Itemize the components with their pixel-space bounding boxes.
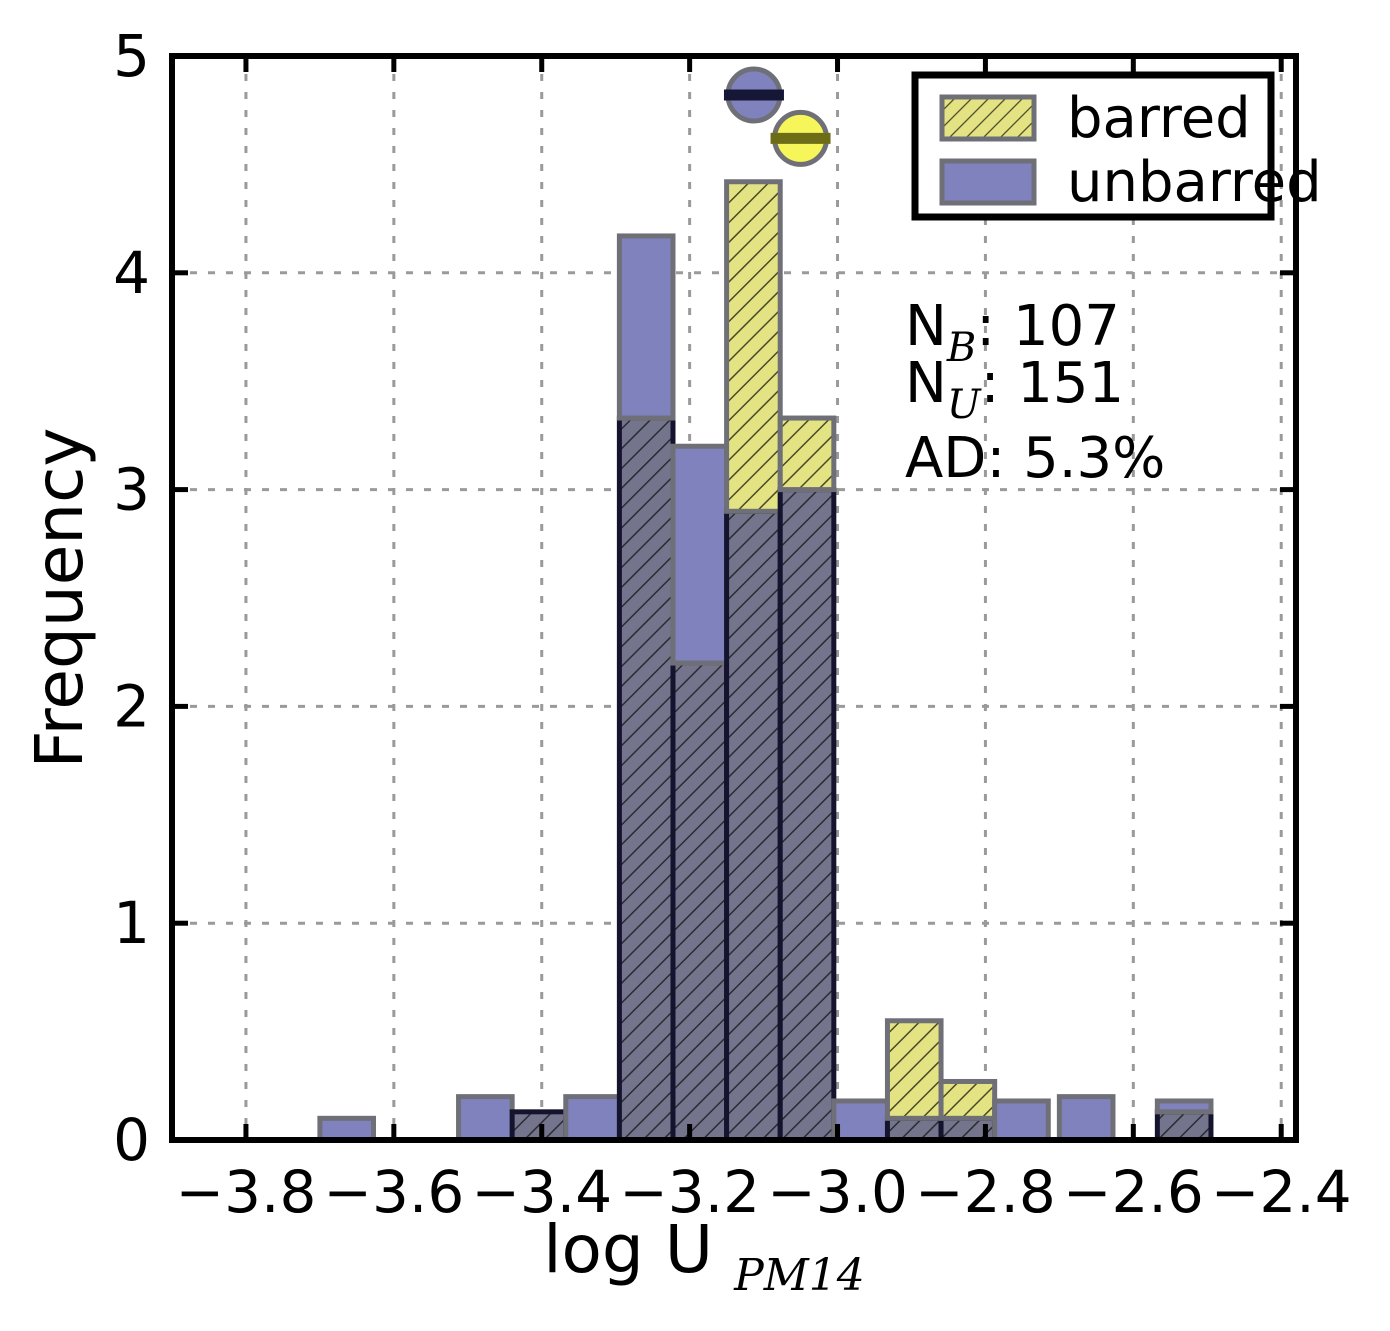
y-tick-label: 3: [113, 456, 150, 524]
y-tick-label: 1: [113, 889, 150, 957]
x-tick-label: −2.8: [915, 1158, 1056, 1226]
histogram-bar-overlap: [1157, 1112, 1211, 1140]
statistics-annotations: NB: 107NU: 151AD: 5.3%: [905, 294, 1165, 491]
histogram-bar-barred: [780, 418, 834, 490]
y-tick-labels: 012345: [113, 22, 150, 1174]
histogram-bar-unbarred: [619, 236, 673, 418]
histogram-bar-overlap: [727, 511, 781, 1140]
histogram-bar-unbarred: [459, 1097, 513, 1140]
y-tick-label: 2: [113, 672, 150, 740]
ad-statistic: AD: 5.3%: [905, 426, 1165, 491]
histogram-bar-overlap: [673, 663, 727, 1140]
y-tick-label: 5: [113, 22, 150, 90]
chart-legend[interactable]: barredunbarred: [915, 75, 1322, 217]
histogram-bar-unbarred: [673, 446, 727, 663]
legend-label-unbarred: unbarred: [1067, 150, 1322, 215]
x-tick-labels: −3.8−3.6−3.4−3.2−3.0−2.8−2.6−2.4: [176, 1158, 1352, 1226]
x-tick-label: −3.8: [176, 1158, 317, 1226]
histogram-bar-unbarred: [566, 1097, 620, 1140]
histogram-bar-unbarred: [834, 1101, 888, 1140]
histogram-bar-unbarred: [1059, 1097, 1113, 1140]
x-tick-label: −2.6: [1063, 1158, 1204, 1226]
histogram-bar-unbarred: [995, 1101, 1049, 1140]
y-tick-label: 0: [113, 1106, 150, 1174]
histogram-bar-unbarred: [1157, 1101, 1211, 1112]
y-tick-label: 4: [113, 239, 150, 307]
histogram-bar-barred: [727, 182, 781, 512]
figure-canvas: −3.8−3.6−3.4−3.2−3.0−2.8−2.6−2.4 012345 …: [0, 0, 1390, 1331]
median-markers: [724, 69, 831, 164]
legend-swatch-unbarred: [942, 161, 1034, 203]
histogram-bar-overlap: [780, 490, 834, 1140]
n-unbarred: NU: 151: [905, 351, 1124, 428]
histogram-bar-overlap: [619, 418, 673, 1140]
histogram-bar-overlap: [512, 1112, 566, 1140]
histogram-bar-unbarred: [320, 1118, 374, 1140]
legend-label-barred: barred: [1067, 86, 1251, 151]
histogram-bar-overlap: [887, 1118, 941, 1140]
x-tick-label: −3.0: [767, 1158, 908, 1226]
histogram-bar-barred: [887, 1021, 941, 1119]
x-tick-label: −3.6: [323, 1158, 464, 1226]
y-axis-title: Frequency: [21, 428, 98, 769]
legend-swatch-barred: [942, 97, 1034, 139]
histogram-bar-barred: [941, 1081, 995, 1118]
x-tick-label: −2.4: [1211, 1158, 1352, 1226]
histogram-chart: −3.8−3.6−3.4−3.2−3.0−2.8−2.6−2.4 012345 …: [0, 0, 1390, 1331]
